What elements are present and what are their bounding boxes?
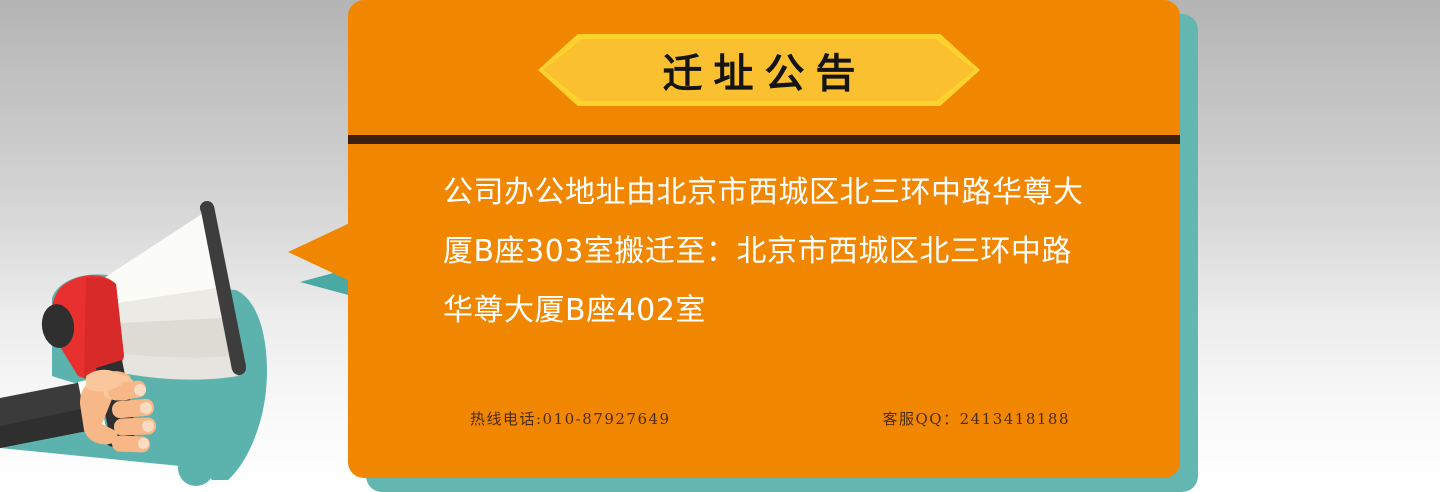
page-title: 迁址公告 (538, 34, 980, 106)
header-divider (348, 135, 1180, 144)
announcement-body: 公司办公地址由北京市西城区北三环中路华尊大厦B座303室搬迁至：北京市西城区北三… (443, 163, 1093, 340)
announcement-poster: 迁址公告 公司办公地址由北京市西城区北三环中路华尊大厦B座303室搬迁至：北京市… (0, 0, 1440, 492)
qq-text: 客服QQ：2413418188 (882, 408, 1070, 429)
contact-footer: 热线电话:010-87927649 客服QQ：2413418188 (470, 408, 1070, 429)
title-ribbon: 迁址公告 (538, 34, 980, 106)
speech-tail (288, 222, 352, 282)
hotline-text: 热线电话:010-87927649 (470, 408, 671, 429)
